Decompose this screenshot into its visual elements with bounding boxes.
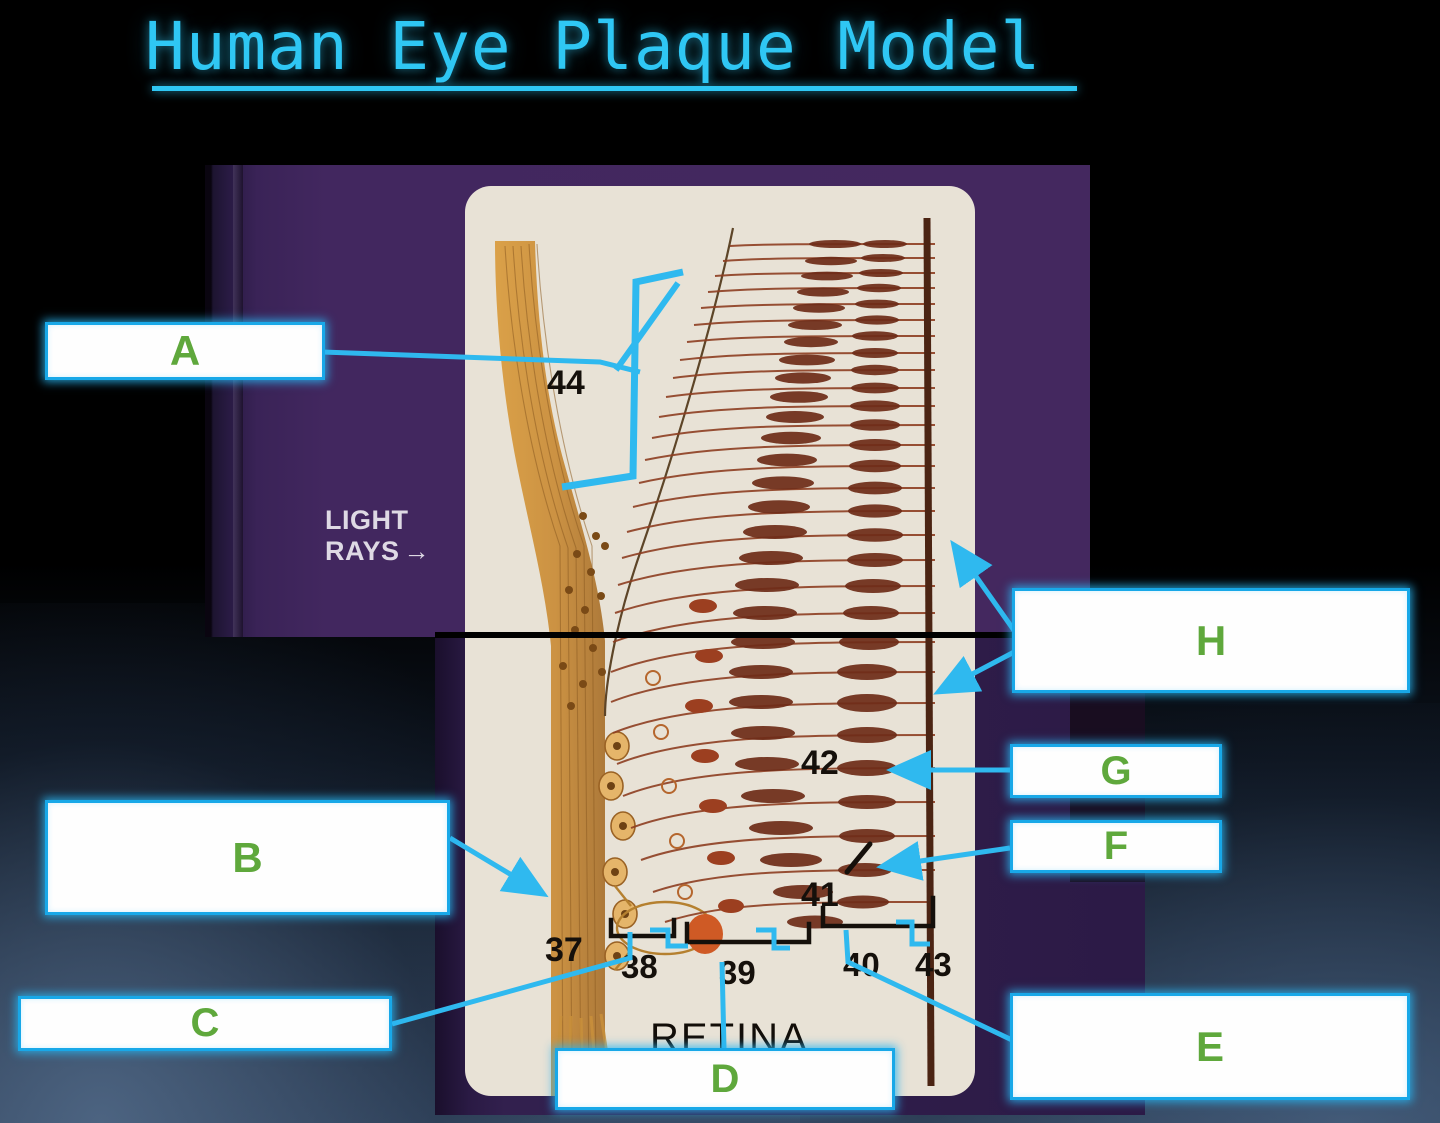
page-title-underline xyxy=(152,86,1077,91)
label-box-D[interactable]: D xyxy=(555,1048,895,1110)
light-rays-text: LIGHT RAYS xyxy=(325,505,409,566)
label-box-E[interactable]: E xyxy=(1010,993,1410,1100)
label-box-H[interactable]: H xyxy=(1012,588,1410,693)
label-box-G-text: G xyxy=(1100,749,1131,794)
label-box-B-text: B xyxy=(232,834,262,882)
label-box-C[interactable]: C xyxy=(18,996,392,1051)
plaque-number-44: 44 xyxy=(547,364,585,403)
plaque-number-42: 42 xyxy=(801,744,839,783)
plaque-number-39: 39 xyxy=(719,954,756,992)
label-box-B[interactable]: B xyxy=(45,800,450,915)
label-box-A-text: A xyxy=(170,327,200,375)
label-box-A[interactable]: A xyxy=(45,322,325,380)
light-rays-caption: LIGHT RAYS→ xyxy=(325,505,475,567)
label-box-E-text: E xyxy=(1196,1023,1224,1071)
label-box-C-text: C xyxy=(191,1001,220,1046)
page-title: Human Eye Plaque Model xyxy=(145,8,1105,86)
plaque-number-37: 37 xyxy=(545,931,583,970)
plaque-number-43: 43 xyxy=(915,946,952,984)
plaque-number-41: 41 xyxy=(801,876,839,915)
label-box-H-text: H xyxy=(1196,617,1226,665)
retina-plaque-card: 37 38 39 40 41 42 43 44 RETINA xyxy=(465,186,975,1096)
label-box-F[interactable]: F xyxy=(1010,820,1222,873)
label-box-D-text: D xyxy=(711,1057,740,1102)
plaque-number-40: 40 xyxy=(843,946,880,984)
label-box-G[interactable]: G xyxy=(1010,744,1222,798)
slide-canvas: Human Eye Plaque Model LIGHT RAYS→ xyxy=(0,0,1440,1123)
plaque-number-38: 38 xyxy=(621,948,658,986)
light-rays-arrow-icon: → xyxy=(404,536,431,567)
label-box-F-text: F xyxy=(1104,824,1128,869)
book-spine-edge xyxy=(233,165,243,637)
